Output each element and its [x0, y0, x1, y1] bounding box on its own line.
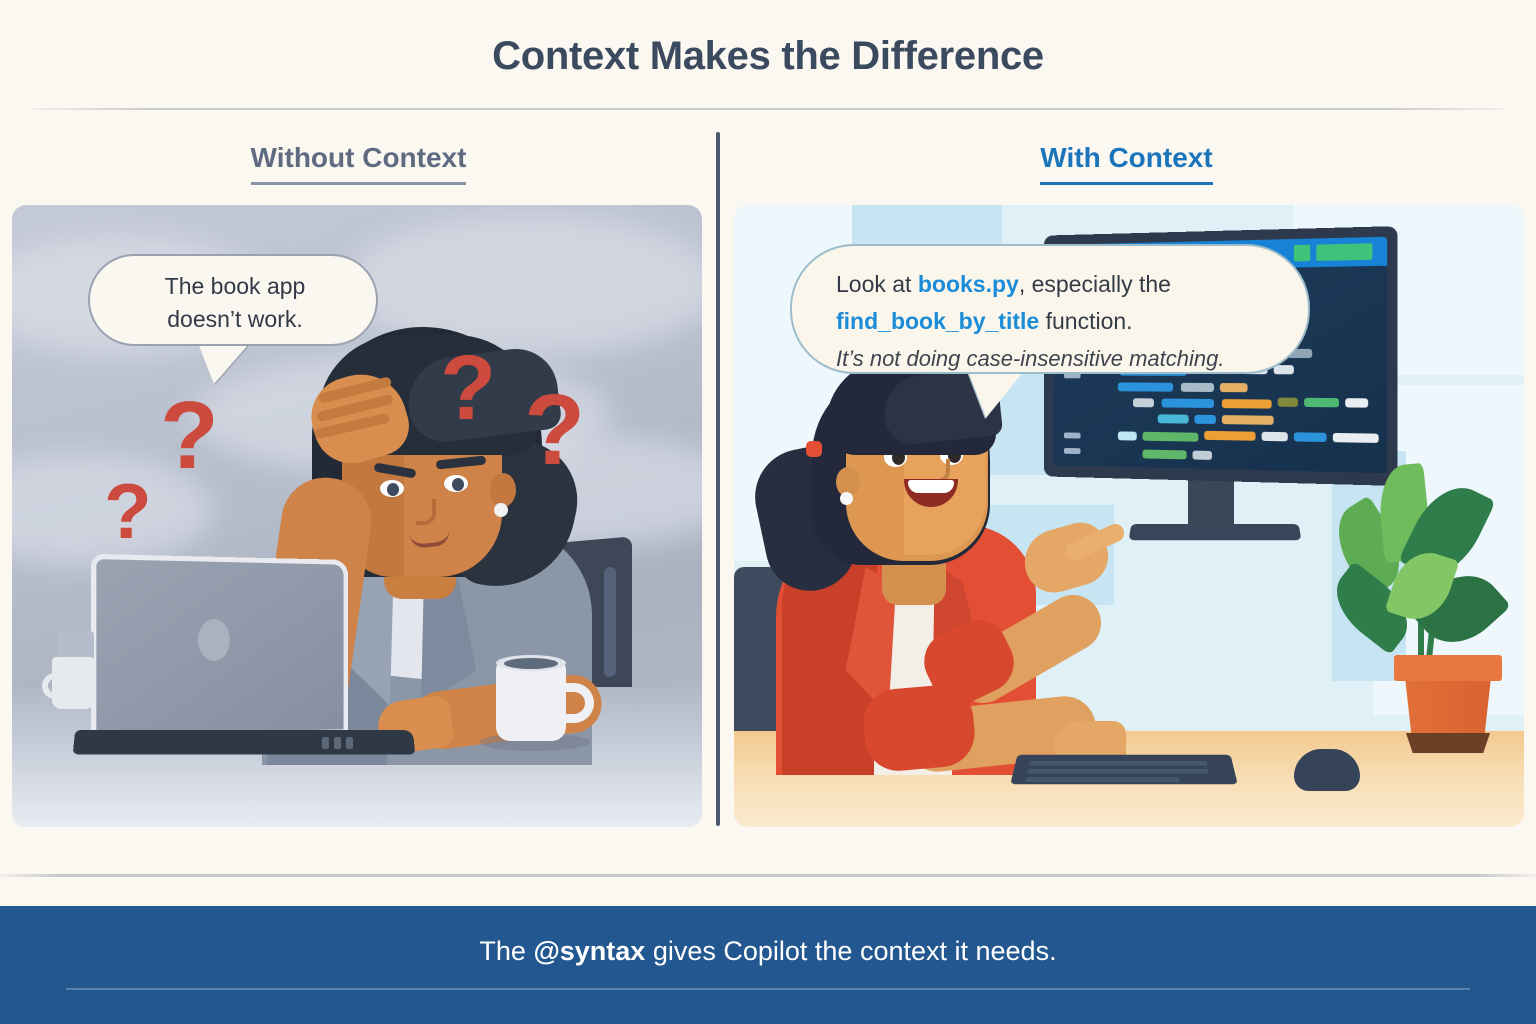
person-ear — [490, 473, 516, 507]
laptop-port — [334, 737, 341, 749]
speech-bubble-with-context: Look at books.py, especially the find_bo… — [790, 244, 1310, 374]
code-token — [1158, 414, 1189, 423]
code-token — [1133, 398, 1154, 407]
person-pupil-left — [387, 483, 399, 496]
speech-bubble-text-right: Look at books.py, especially the find_bo… — [836, 266, 1276, 377]
code-token — [1204, 431, 1255, 441]
code-token — [1278, 398, 1298, 407]
code-token — [1333, 433, 1379, 443]
code-reference-function: find_book_by_title — [836, 308, 1039, 334]
plant-pot-rim — [1394, 655, 1502, 681]
code-token — [1193, 451, 1213, 460]
keyboard — [1010, 755, 1237, 784]
code-token — [1118, 431, 1137, 440]
bubble-right-line-1: Look at books.py, especially the — [836, 266, 1276, 303]
column-header-with-context: With Context — [717, 142, 1536, 194]
code-token — [1194, 415, 1216, 424]
bubble-right-line-3: It’s not doing case-insensitive matching… — [836, 340, 1276, 377]
person-hair-tie — [806, 441, 822, 457]
person-earring — [840, 492, 853, 505]
question-mark-icon: ? — [524, 380, 585, 480]
line-number — [1064, 432, 1081, 438]
laptop-port — [346, 737, 353, 749]
office-chair-highlight — [604, 566, 616, 677]
footer-text: The @syntax gives Copilot the context it… — [0, 936, 1536, 967]
laptop-logo — [198, 619, 230, 661]
code-token — [1345, 398, 1368, 408]
bubble-right-line1-prefix: Look at — [836, 271, 918, 297]
code-token — [1142, 450, 1186, 460]
column-header-without-context: Without Context — [0, 142, 717, 194]
code-token — [1274, 365, 1294, 374]
title-divider — [32, 108, 1504, 110]
footer-suffix: gives Copilot the context it needs. — [645, 936, 1056, 966]
footer-emphasis: @syntax — [533, 936, 645, 966]
code-token — [1222, 415, 1274, 425]
question-mark-icon: ? — [104, 472, 152, 550]
footer-banner: The @syntax gives Copilot the context it… — [0, 906, 1536, 1024]
footer-prefix: The — [479, 936, 533, 966]
code-token — [1181, 383, 1214, 392]
keyboard-row — [1027, 769, 1209, 774]
code-token — [1118, 382, 1173, 391]
person-earring — [494, 503, 508, 517]
question-mark-icon: ? — [160, 388, 219, 484]
code-token — [1262, 432, 1288, 442]
bubble-right-line-2: find_book_by_title function. — [836, 303, 1276, 340]
code-token — [1142, 432, 1198, 442]
keyboard-row — [1025, 777, 1179, 782]
mug-coffee — [504, 658, 558, 669]
page-title: Context Makes the Difference — [0, 34, 1536, 79]
footer-underline — [66, 988, 1470, 990]
title-bar-badge — [1294, 245, 1310, 262]
title-bar-badge — [1316, 243, 1372, 261]
keyboard-row — [1029, 761, 1208, 766]
code-token — [1294, 432, 1327, 442]
person-teeth — [908, 480, 954, 493]
laptop-port — [322, 737, 329, 749]
question-mark-icon: ? — [440, 342, 496, 434]
code-reference-filename: books.py — [918, 271, 1019, 297]
code-token — [1220, 383, 1248, 392]
person-pupil-right — [452, 478, 464, 491]
speech-bubble-text-left: The book app doesn’t work. — [90, 270, 380, 336]
vertical-divider — [716, 132, 720, 826]
infographic-page: Context Makes the Difference Without Con… — [0, 0, 1536, 1024]
code-token — [1222, 399, 1272, 409]
code-token — [1162, 399, 1214, 408]
bubble-left-line-2: doesn’t work. — [90, 303, 380, 336]
without-context-label: Without Context — [251, 142, 467, 185]
bubble-right-line1-suffix: , especially the — [1019, 271, 1171, 297]
second-mug — [52, 657, 94, 709]
mouse — [1294, 749, 1360, 791]
plant-pot-soil — [1406, 733, 1490, 753]
coffee-mug — [496, 663, 566, 741]
with-context-label: With Context — [1040, 142, 1212, 185]
speech-bubble-without-context: The book app doesn’t work. — [88, 254, 378, 346]
code-token — [1304, 398, 1339, 408]
footer-divider — [0, 874, 1536, 877]
bubble-right-line2-suffix: function. — [1039, 308, 1132, 334]
laptop-base — [73, 730, 416, 754]
line-number — [1064, 448, 1081, 454]
bubble-left-line-1: The book app — [90, 270, 380, 303]
